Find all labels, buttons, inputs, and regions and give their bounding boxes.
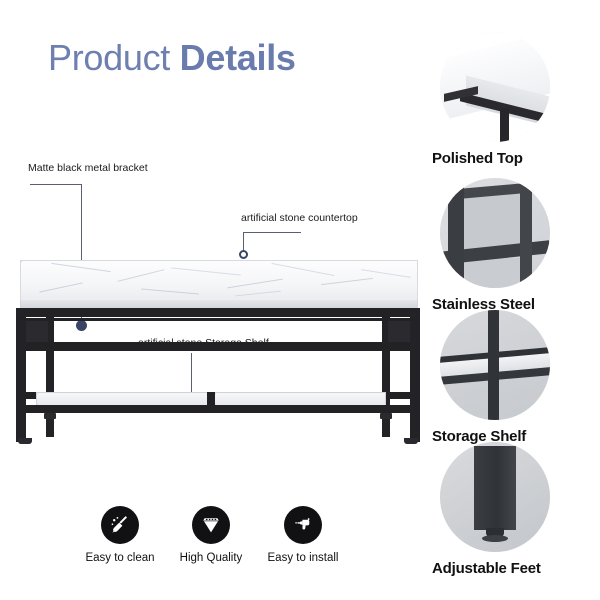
shelf-front-rail: [26, 405, 410, 413]
frame-mid-rail: [26, 342, 410, 351]
drill-icon: [284, 506, 322, 544]
frame-top-rail: [16, 308, 420, 317]
foot-right-inner: [380, 413, 392, 419]
detail-caption-polished-top: Polished Top: [432, 150, 600, 167]
foot-left-outer: [18, 438, 32, 444]
feature-easy-to-install[interactable]: Easy to install: [248, 506, 358, 564]
detail-card-polished-top[interactable]: Polished Top: [432, 32, 600, 167]
shelf-panel-left: [36, 392, 208, 406]
detail-card-stainless-steel[interactable]: Stainless Steel: [432, 178, 600, 313]
countertop-edge: [20, 300, 418, 308]
leader-line-countertop-horizontal: [243, 232, 301, 233]
foot-left-inner: [44, 413, 56, 419]
page-title-light: Product: [48, 37, 180, 78]
broom-icon: [101, 506, 139, 544]
page-title-bold: Details: [180, 37, 296, 78]
foot-right-outer: [404, 438, 418, 444]
detail-card-adjustable-feet[interactable]: Adjustable Feet: [432, 442, 600, 577]
frame-sub-rail: [16, 318, 420, 321]
detail-caption-adjustable-feet: Adjustable Feet: [432, 560, 600, 577]
diamond-icon: [192, 506, 230, 544]
thumbnail-storage-shelf[interactable]: [440, 310, 550, 420]
product-illustration: [8, 252, 428, 457]
leader-line-bracket-horizontal: [30, 184, 82, 185]
shelf-center-divider: [207, 392, 215, 406]
page-title: Product Details: [48, 36, 296, 80]
thumbnail-polished-top[interactable]: [440, 32, 550, 142]
callout-label-bracket: Matte black metal bracket: [28, 162, 148, 175]
callout-label-countertop: artificial stone countertop: [241, 212, 358, 225]
thumbnail-adjustable-feet[interactable]: [440, 442, 550, 552]
thumbnail-stainless-steel[interactable]: [440, 178, 550, 288]
feature-label-easy-to-install: Easy to install: [248, 552, 358, 564]
detail-card-storage-shelf[interactable]: Storage Shelf: [432, 310, 600, 445]
shelf-panel-right: [214, 392, 386, 406]
product-details-infographic: Product Details Matte black metal bracke…: [0, 0, 600, 600]
countertop-slab: [20, 260, 418, 304]
